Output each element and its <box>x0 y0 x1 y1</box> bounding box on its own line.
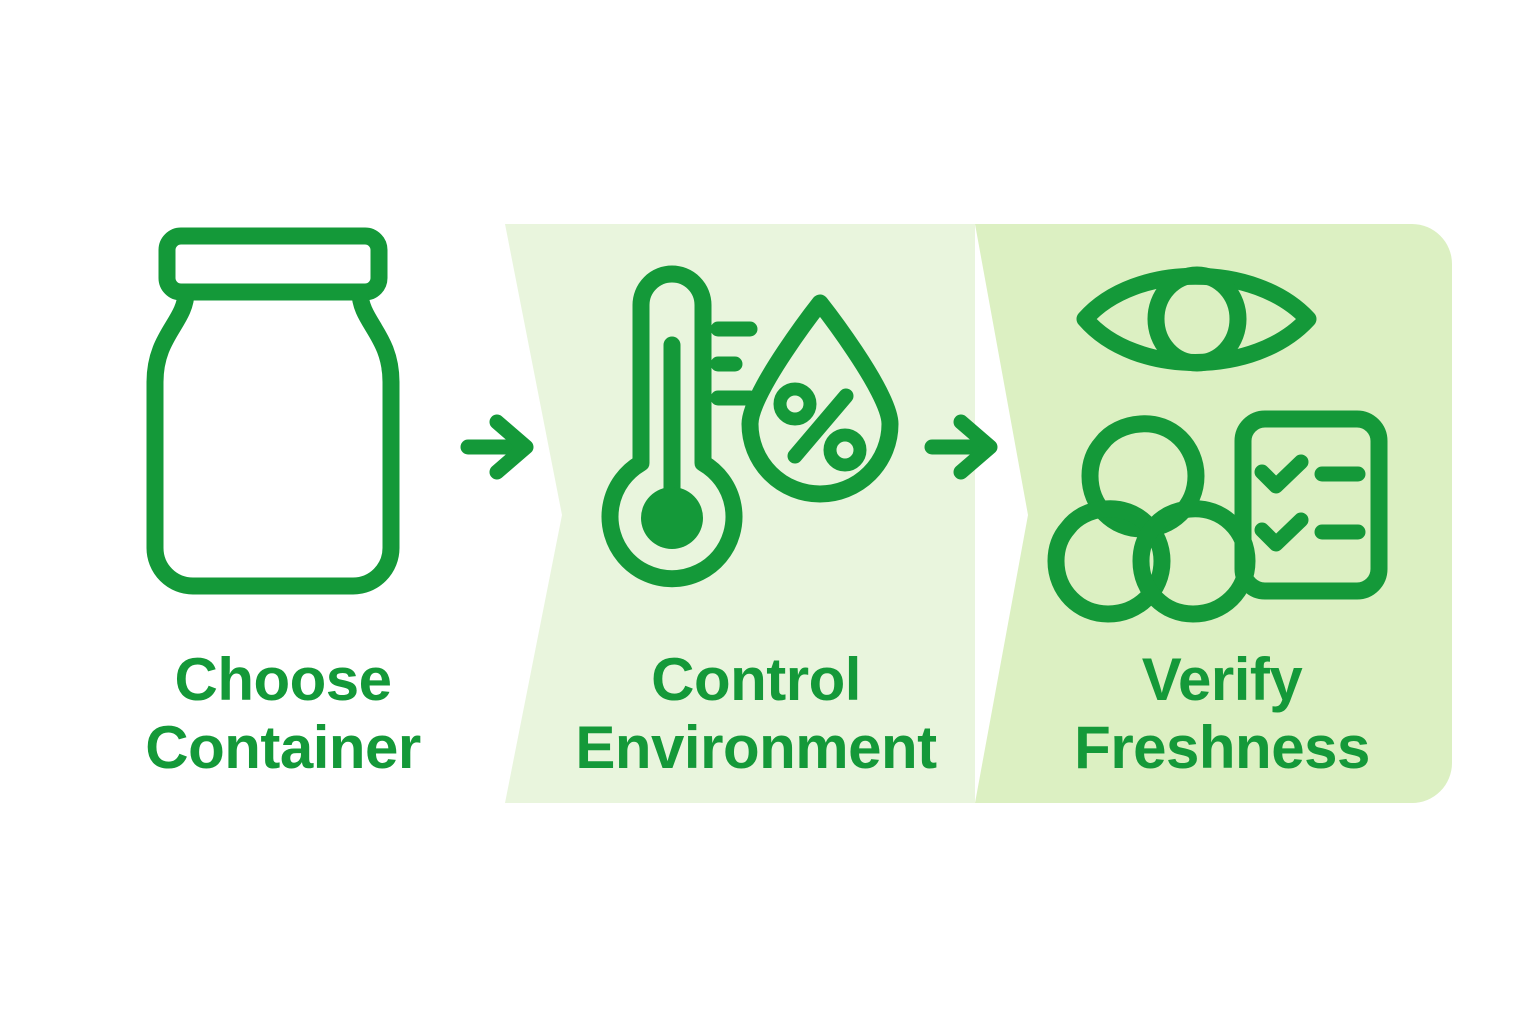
label-verify-freshness-line1: Verify <box>1142 646 1304 713</box>
jar-lid <box>167 236 379 292</box>
label-choose-container-line1: Choose <box>174 646 391 713</box>
label-verify-freshness-line2: Freshness <box>1074 714 1370 781</box>
thermometer-bulb <box>641 487 703 549</box>
process-infographic: Choose Container Control Environment Ver… <box>0 0 1536 1024</box>
label-choose-container-line2: Container <box>145 714 421 781</box>
jar-body <box>155 292 391 586</box>
step-labels: Choose Container Control Environment Ver… <box>145 646 1370 781</box>
label-control-environment-line1: Control <box>651 646 861 713</box>
infographic-canvas: Choose Container Control Environment Ver… <box>0 0 1536 1024</box>
jar-icon <box>155 236 391 586</box>
label-control-environment-line2: Environment <box>575 714 937 781</box>
right-arrow-icon-1 <box>468 422 526 472</box>
